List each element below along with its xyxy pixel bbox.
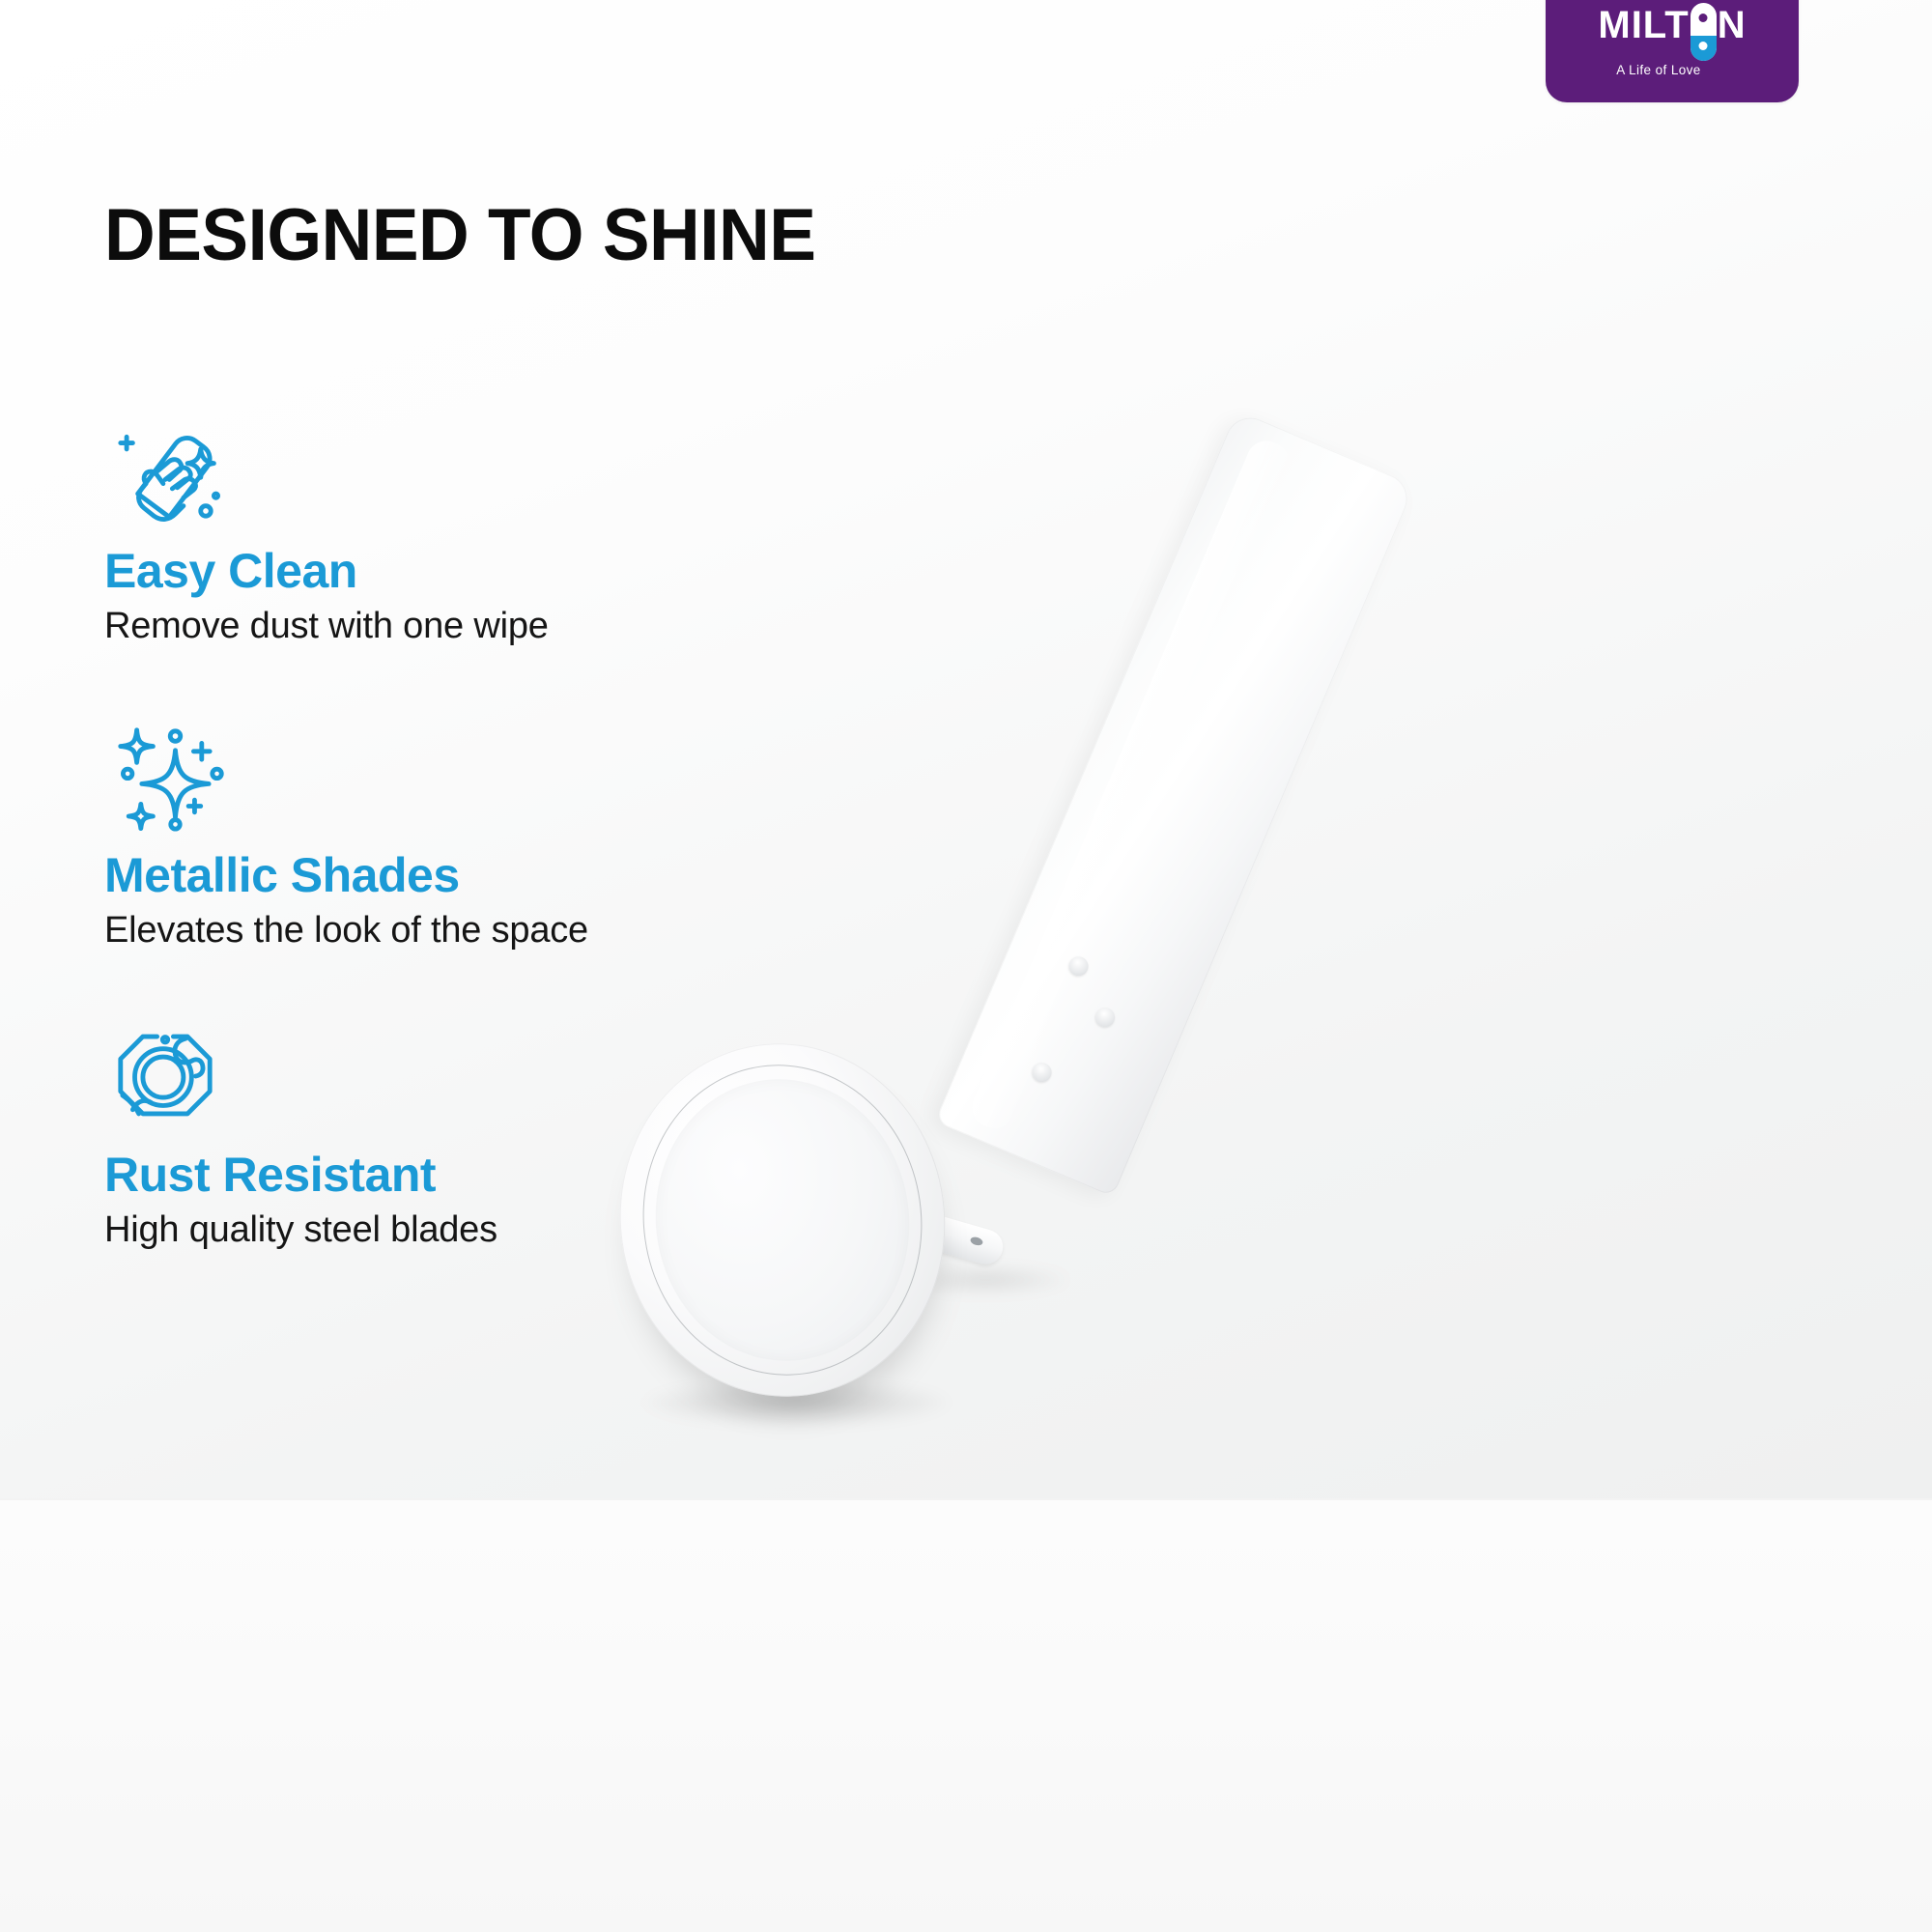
milton-o-pill-icon: [1690, 3, 1717, 61]
feature-title: Rust Resistant: [104, 1150, 497, 1201]
milton-logo-badge: MILT N A Life of Love: [1546, 0, 1799, 102]
milton-wordmark-n: N: [1718, 6, 1747, 44]
feature-block-rust-resistant: Rust Resistant High quality steel blades: [104, 1014, 497, 1250]
sparkles-icon: [104, 715, 588, 837]
downrod-hole: [970, 1236, 984, 1246]
blade-highlight: [966, 435, 1295, 1134]
blade-rivet: [1093, 1005, 1118, 1030]
milton-wordmark-milt: MILT: [1598, 6, 1689, 44]
feature-block-easy-clean: Easy Clean Remove dust with one wipe: [104, 411, 549, 646]
fan-blade: [935, 411, 1415, 1198]
hand-wipe-sparkle-icon: [104, 411, 549, 532]
floor-band: [0, 1498, 1932, 1932]
poster-canvas: MILT N A Life of Love DESIGNED TO SHINE: [0, 0, 1932, 1932]
milton-wordmark: MILT N: [1598, 6, 1746, 61]
fan-motor-housing: [597, 1022, 968, 1417]
feature-title: Metallic Shades: [104, 850, 588, 901]
pill-dot-bottom: [1699, 42, 1708, 50]
feature-block-metallic-shades: Metallic Shades Elevates the look of the…: [104, 715, 588, 951]
octagon-nut-icon: [104, 1014, 497, 1136]
feature-subtitle: Remove dust with one wipe: [104, 607, 549, 647]
page-title: DESIGNED TO SHINE: [104, 193, 815, 277]
feature-subtitle: Elevates the look of the space: [104, 911, 588, 952]
milton-logo: MILT N A Life of Love: [1546, 6, 1799, 77]
product-image: [580, 367, 1662, 1507]
pill-dot-top: [1699, 14, 1708, 22]
pill-shape: [1690, 3, 1717, 61]
milton-tagline: A Life of Love: [1616, 63, 1700, 77]
feature-subtitle: High quality steel blades: [104, 1210, 497, 1251]
feature-title: Easy Clean: [104, 546, 549, 597]
